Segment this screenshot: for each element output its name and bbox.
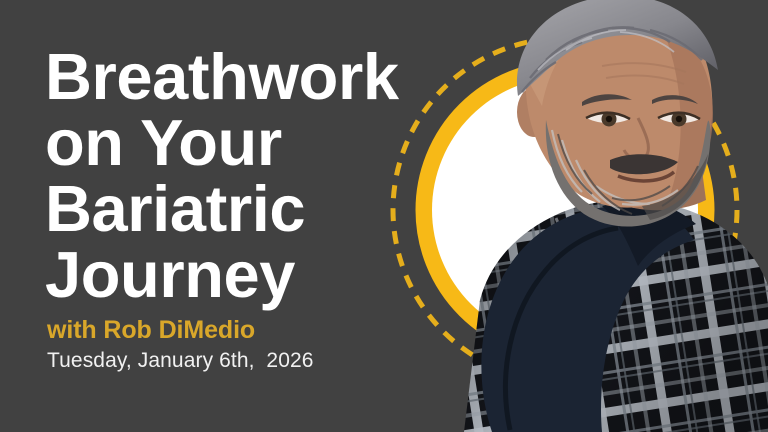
presenter-line: with Rob DiMedio [47, 316, 425, 344]
event-datetime: Tuesday, January 6th, 2026 [47, 349, 425, 373]
text-content: Breathwork on Your Bariatric Journey wit… [45, 44, 425, 373]
page-title: Breathwork on Your Bariatric Journey [45, 44, 425, 308]
head [517, 0, 718, 227]
promo-slide: Breathwork on Your Bariatric Journey wit… [0, 0, 768, 432]
portrait-figure [406, 0, 768, 432]
